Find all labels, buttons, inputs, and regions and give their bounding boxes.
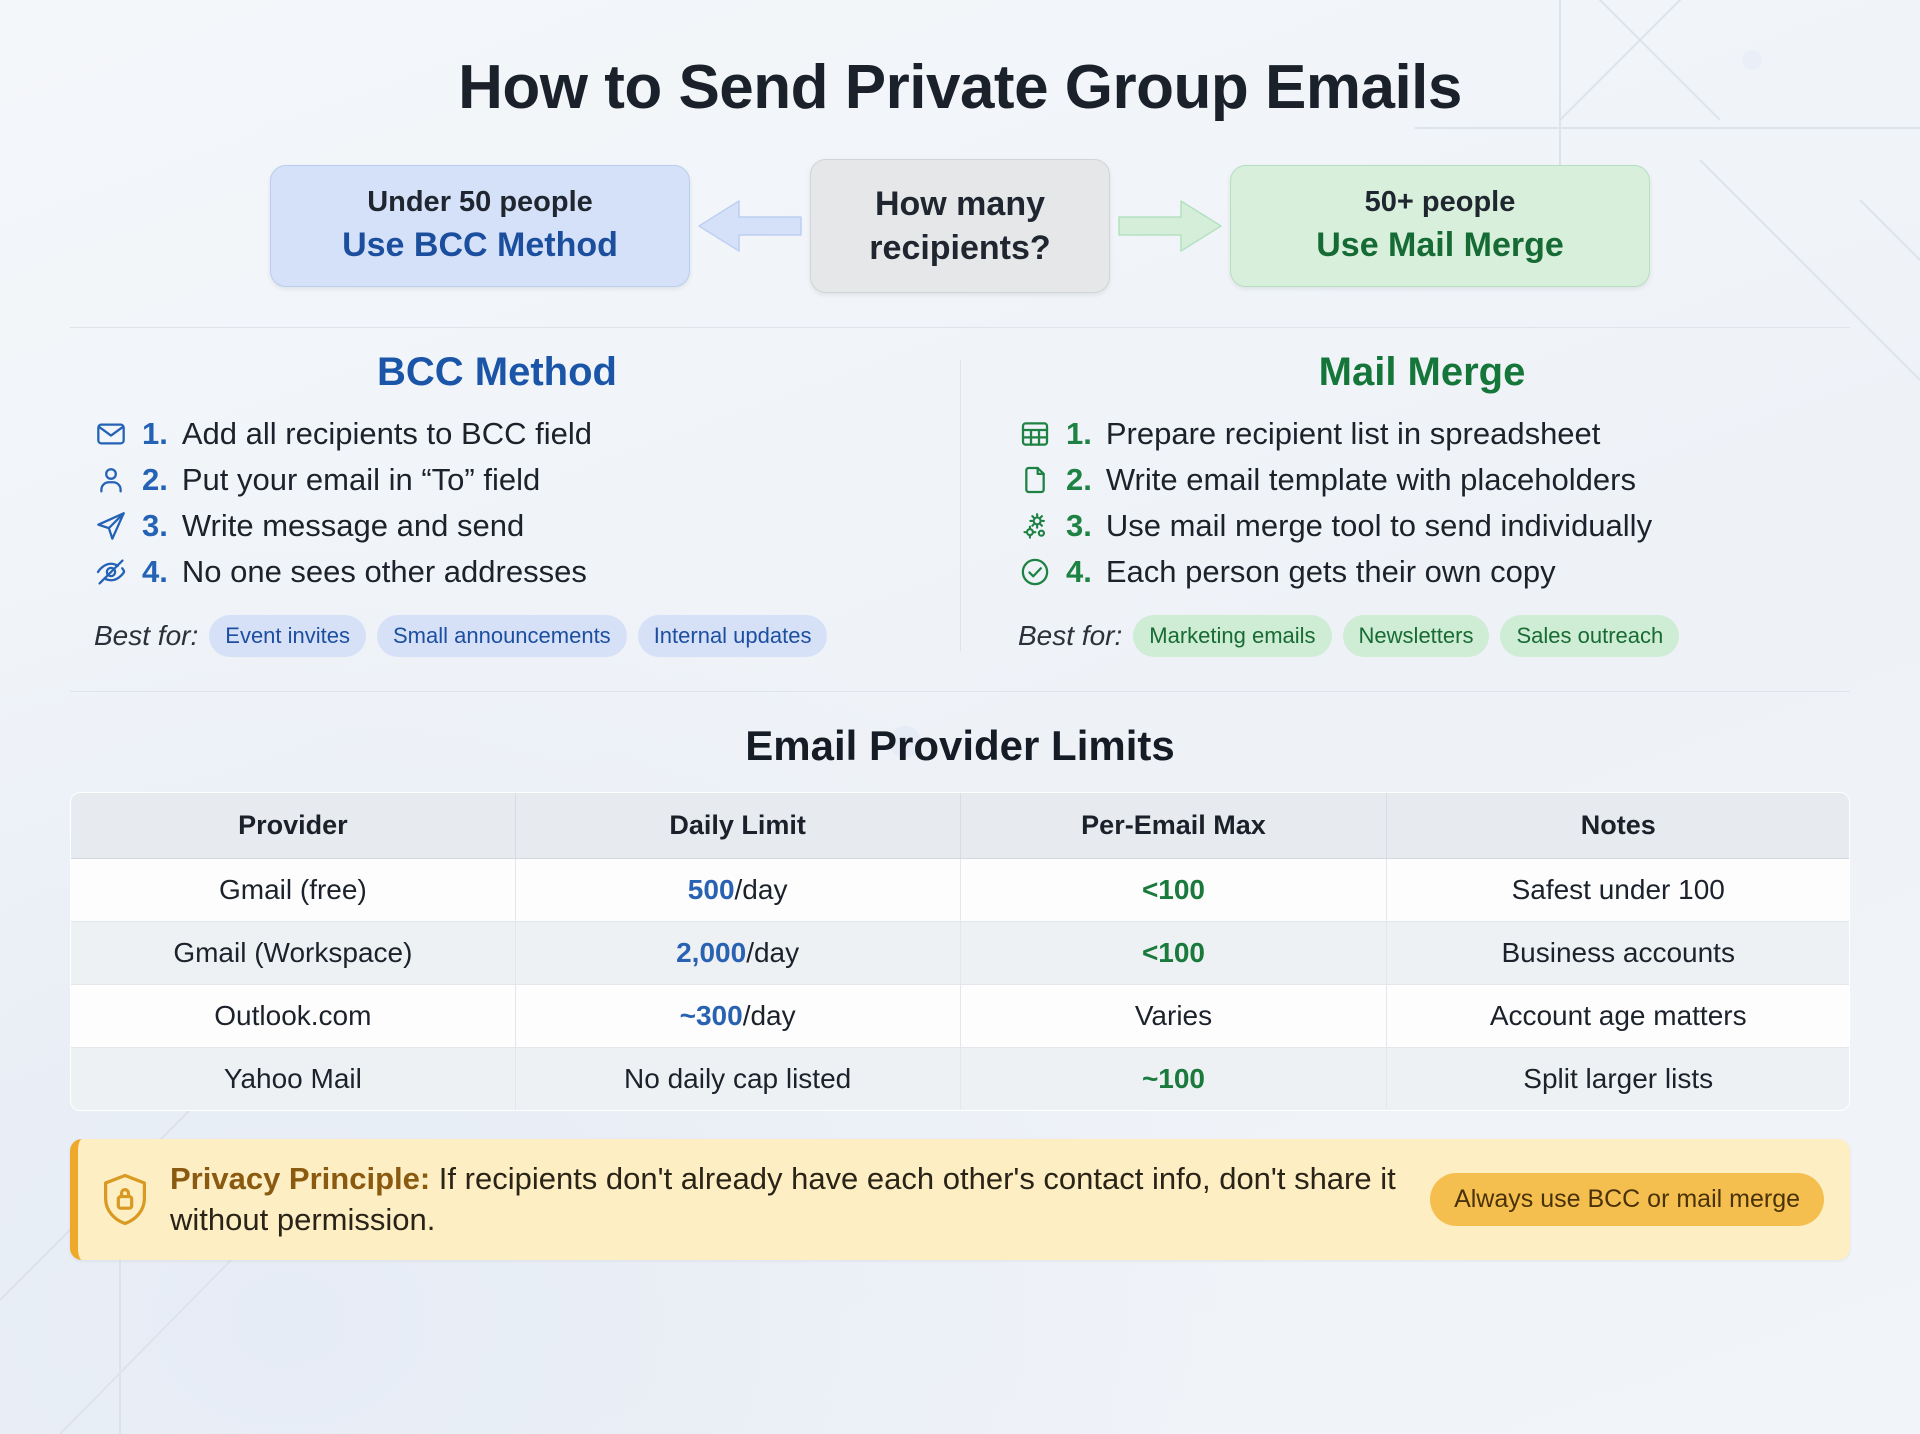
mail-merge-step-1-text: Prepare recipient list in spreadsheet [1106, 416, 1601, 452]
privacy-principle-text: Privacy Principle: If recipients don't a… [170, 1159, 1398, 1240]
spreadsheet-icon [1018, 417, 1052, 451]
cell-daily-limit: 500/day [515, 859, 960, 922]
mail-merge-step-1: 1. Prepare recipient list in spreadsheet [1018, 411, 1826, 457]
privacy-badge[interactable]: Always use BCC or mail merge [1430, 1173, 1824, 1226]
table-row: Gmail (free) 500/day <100 Safest under 1… [71, 859, 1850, 922]
column-header-daily-limit: Daily Limit [515, 793, 960, 859]
privacy-principle-banner: Privacy Principle: If recipients don't a… [70, 1139, 1850, 1260]
per-email-value: <100 [1142, 937, 1205, 968]
table-header-row: Provider Daily Limit Per-Email Max Notes [71, 793, 1850, 859]
bcc-column-heading: BCC Method [94, 350, 900, 395]
methods-section: BCC Method 1. Add all recipients to BCC … [70, 350, 1850, 657]
cell-per-email-max: <100 [960, 859, 1387, 922]
cell-daily-limit: ~300/day [515, 985, 960, 1048]
cell-provider: Gmail (free) [71, 859, 516, 922]
page-title: How to Send Private Group Emails [70, 0, 1850, 123]
daily-limit-value: 2,000 [676, 937, 746, 968]
cell-provider: Gmail (Workspace) [71, 922, 516, 985]
cell-per-email-max: <100 [960, 922, 1387, 985]
daily-limit-suffix: /day [735, 874, 788, 905]
eye-off-icon [94, 555, 128, 589]
privacy-principle-label: Privacy Principle: [170, 1161, 430, 1196]
mail-merge-step-3: 3. Use mail merge tool to send individua… [1018, 503, 1826, 549]
send-icon [94, 509, 128, 543]
bcc-best-for-label: Best for: [94, 620, 198, 652]
bcc-step-3: 3. Write message and send [94, 503, 900, 549]
cell-notes: Business accounts [1387, 922, 1850, 985]
cell-notes: Safest under 100 [1387, 859, 1850, 922]
daily-limit-suffix: /day [743, 1000, 796, 1031]
column-header-per-email-max: Per-Email Max [960, 793, 1387, 859]
mail-merge-step-4: 4. Each person gets their own copy [1018, 549, 1826, 595]
table-row: Gmail (Workspace) 2,000/day <100 Busines… [71, 922, 1850, 985]
mail-merge-step-2-text: Write email template with placeholders [1106, 462, 1636, 498]
mail-merge-steps-list: 1. Prepare recipient list in spreadsheet… [1018, 411, 1826, 595]
arrow-left [690, 197, 810, 255]
question-line-2: recipients? [831, 226, 1089, 270]
cell-notes: Account age matters [1387, 985, 1850, 1048]
daily-limit-suffix: No daily cap listed [624, 1063, 851, 1094]
check-circle-icon [1018, 555, 1052, 589]
table-title: Email Provider Limits [70, 722, 1850, 770]
bcc-option-action: Use BCC Method [297, 224, 663, 268]
gears-icon [1018, 509, 1052, 543]
per-email-value: ~100 [1142, 1063, 1205, 1094]
mail-merge-column-heading: Mail Merge [1018, 350, 1826, 395]
bcc-step-3-number: 3. [142, 508, 168, 544]
cell-per-email-max: ~100 [960, 1048, 1387, 1111]
mail-merge-step-4-text: Each person gets their own copy [1106, 554, 1556, 590]
document-icon [1018, 463, 1052, 497]
envelope-icon [94, 417, 128, 451]
bcc-step-4-number: 4. [142, 554, 168, 590]
bcc-step-2-text: Put your email in “To” field [182, 462, 540, 498]
arrow-right [1110, 197, 1230, 255]
bcc-step-4-text: No one sees other addresses [182, 554, 587, 590]
bcc-step-4: 4. No one sees other addresses [94, 549, 900, 595]
mail-merge-best-for-label: Best for: [1018, 620, 1122, 652]
mail-merge-step-3-number: 3. [1066, 508, 1092, 544]
bcc-chip-2[interactable]: Small announcements [377, 615, 627, 657]
per-email-value: <100 [1142, 874, 1205, 905]
decision-option-bcc[interactable]: Under 50 people Use BCC Method [270, 165, 690, 287]
mail-merge-best-for: Best for: Marketing emails Newsletters S… [1018, 615, 1826, 657]
bcc-chip-3[interactable]: Internal updates [638, 615, 828, 657]
daily-limit-value: 500 [688, 874, 735, 905]
decision-question: How many recipients? [810, 159, 1110, 293]
column-header-notes: Notes [1387, 793, 1850, 859]
bcc-step-3-text: Write message and send [182, 508, 524, 544]
decision-flow: Under 50 people Use BCC Method How many … [70, 159, 1850, 293]
mail-merge-step-2: 2. Write email template with placeholder… [1018, 457, 1826, 503]
bcc-step-1-text: Add all recipients to BCC field [182, 416, 592, 452]
cell-provider: Outlook.com [71, 985, 516, 1048]
mail-merge-step-3-text: Use mail merge tool to send individually [1106, 508, 1652, 544]
shield-lock-icon [98, 1172, 152, 1228]
mail-merge-step-2-number: 2. [1066, 462, 1092, 498]
bcc-step-2: 2. Put your email in “To” field [94, 457, 900, 503]
mail-merge-column: Mail Merge 1. Prepare recipient list in … [960, 350, 1850, 657]
column-divider [960, 360, 961, 651]
mail-merge-chip-3[interactable]: Sales outreach [1500, 615, 1679, 657]
cell-daily-limit: No daily cap listed [515, 1048, 960, 1111]
daily-limit-value: ~300 [680, 1000, 743, 1031]
cell-per-email-max: Varies [960, 985, 1387, 1048]
bcc-step-1: 1. Add all recipients to BCC field [94, 411, 900, 457]
email-provider-limits-table: Provider Daily Limit Per-Email Max Notes… [70, 792, 1850, 1111]
infographic-page: How to Send Private Group Emails Under 5… [0, 0, 1920, 1434]
column-header-provider: Provider [71, 793, 516, 859]
table-row: Yahoo Mail No daily cap listed ~100 Spli… [71, 1048, 1850, 1111]
mail-merge-chip-1[interactable]: Marketing emails [1133, 615, 1331, 657]
bcc-steps-list: 1. Add all recipients to BCC field 2. Pu… [94, 411, 900, 595]
bcc-chip-1[interactable]: Event invites [209, 615, 366, 657]
bcc-best-for: Best for: Event invites Small announceme… [94, 615, 900, 657]
cell-provider: Yahoo Mail [71, 1048, 516, 1111]
mail-merge-option-condition: 50+ people [1257, 184, 1623, 221]
cell-daily-limit: 2,000/day [515, 922, 960, 985]
bcc-step-2-number: 2. [142, 462, 168, 498]
mail-merge-step-4-number: 4. [1066, 554, 1092, 590]
person-icon [94, 463, 128, 497]
mail-merge-step-1-number: 1. [1066, 416, 1092, 452]
decision-option-mail-merge[interactable]: 50+ people Use Mail Merge [1230, 165, 1650, 287]
bcc-method-column: BCC Method 1. Add all recipients to BCC … [70, 350, 960, 657]
cell-notes: Split larger lists [1387, 1048, 1850, 1111]
bcc-step-1-number: 1. [142, 416, 168, 452]
mail-merge-chip-2[interactable]: Newsletters [1343, 615, 1490, 657]
divider-top [70, 327, 1850, 328]
bcc-option-condition: Under 50 people [297, 184, 663, 221]
question-line-1: How many [831, 182, 1089, 226]
table-row: Outlook.com ~300/day Varies Account age … [71, 985, 1850, 1048]
divider-bottom [70, 691, 1850, 692]
daily-limit-suffix: /day [746, 937, 799, 968]
mail-merge-option-action: Use Mail Merge [1257, 224, 1623, 268]
